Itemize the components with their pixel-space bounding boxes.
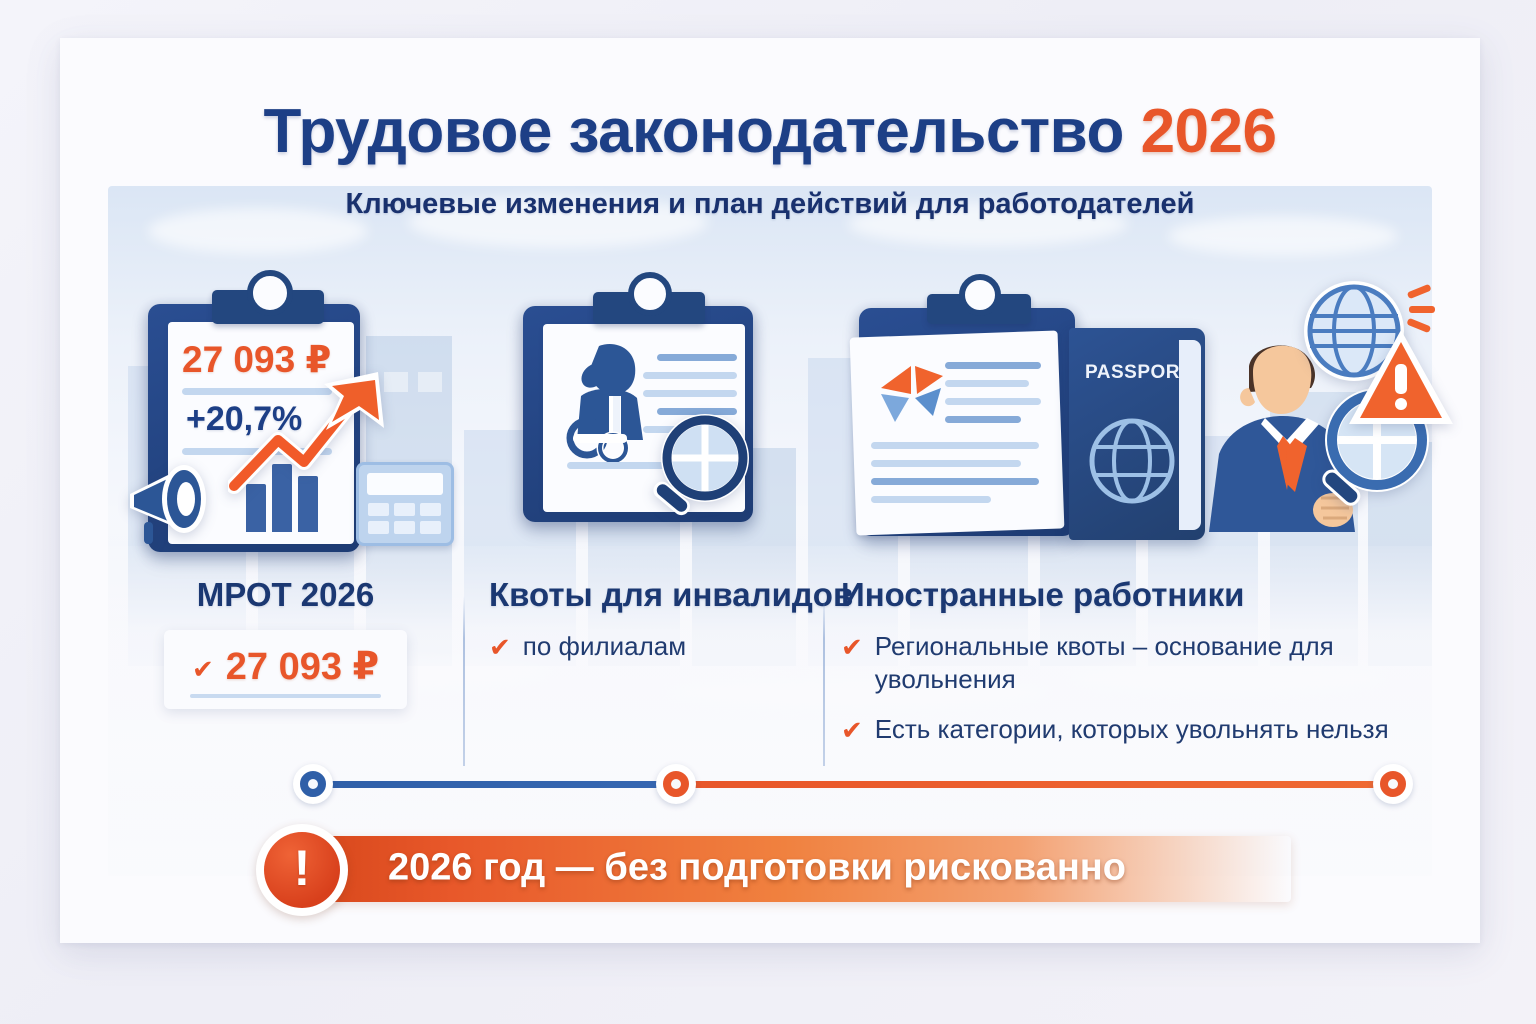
bullet-text: Есть категории, которых увольнять нельзя — [875, 713, 1389, 746]
bullet-text: по филиалам — [523, 630, 686, 663]
footer-banner: 2026 год — без подготовки рискованно ! — [256, 824, 1291, 916]
foreign-bullets: ✔ Региональные квоты – основание для уво… — [841, 630, 1428, 746]
mrot-highlight-value: 27 093 ₽ — [226, 644, 379, 689]
foreign-illustration: PASSPORT — [827, 266, 1428, 566]
column-divider — [823, 596, 825, 766]
content-columns: 27 093 ₽ +20,7% — [108, 266, 1432, 766]
chip-underline — [190, 694, 381, 698]
magnifier-icon — [641, 406, 769, 534]
timeline — [108, 764, 1432, 804]
footer-banner-bar: 2026 год — без подготовки рискованно — [316, 836, 1291, 902]
poster-stage: Трудовое законодательство 2026 Ключевые … — [0, 0, 1536, 1024]
page-title: Трудовое законодательство 2026 — [60, 96, 1480, 167]
check-icon: ✔ — [192, 656, 214, 682]
column-quotas: Квоты для инвалидов ✔ по филиалам — [463, 266, 823, 766]
check-icon: ✔ — [841, 634, 863, 660]
column-mrot: 27 093 ₽ +20,7% — [108, 266, 463, 766]
quotas-caption: Квоты для инвалидов — [489, 576, 815, 614]
poster-card: Трудовое законодательство 2026 Ключевые … — [60, 38, 1480, 943]
timeline-node-3[interactable] — [1373, 764, 1413, 804]
calculator-icon — [356, 462, 454, 546]
page-subtitle: Ключевые изменения и план действий для р… — [60, 188, 1480, 221]
column-foreign: PASSPORT — [823, 266, 1432, 766]
passport-globe-icon — [1085, 414, 1179, 508]
megaphone-icon — [120, 442, 270, 552]
passport-label: PASSPORT — [1085, 362, 1192, 384]
exclamation-glyph: ! — [294, 843, 311, 893]
check-icon: ✔ — [841, 717, 863, 743]
timeline-segment-blue — [313, 781, 676, 788]
bullet-text: Региональные квоты – основание для уволь… — [875, 630, 1395, 695]
title-year-text: 2026 — [1141, 97, 1277, 166]
timeline-node-1[interactable] — [293, 764, 333, 804]
quotas-bullets: ✔ по филиалам — [489, 630, 815, 663]
list-item: ✔ по филиалам — [489, 630, 815, 663]
footer-banner-text: 2026 год — без подготовки рискованно — [388, 847, 1126, 890]
clipboard-ring — [247, 270, 293, 316]
foreign-caption: Иностранные работники — [841, 576, 1428, 614]
timeline-node-2[interactable] — [656, 764, 696, 804]
mrot-caption: МРОТ 2026 — [116, 576, 455, 614]
warning-triangle-icon — [1343, 324, 1459, 434]
clipboard-ring — [959, 274, 1001, 316]
mrot-illustration: 27 093 ₽ +20,7% — [116, 266, 455, 566]
list-item: ✔ Региональные квоты – основание для уво… — [841, 630, 1428, 695]
timeline-segment-orange — [676, 781, 1393, 788]
pie-chart-icon — [869, 358, 955, 432]
title-main-text: Трудовое законодательство — [263, 97, 1123, 166]
passport-pages — [1179, 340, 1201, 530]
exclamation-icon: ! — [264, 832, 340, 908]
alert-badge: ! — [256, 824, 348, 916]
list-item: ✔ Есть категории, которых увольнять нель… — [841, 713, 1428, 746]
clipboard-ring — [628, 272, 672, 316]
mrot-highlight-chip: ✔ 27 093 ₽ — [164, 630, 407, 709]
quotas-illustration — [471, 266, 815, 566]
column-divider — [463, 596, 465, 766]
check-icon: ✔ — [489, 634, 511, 660]
